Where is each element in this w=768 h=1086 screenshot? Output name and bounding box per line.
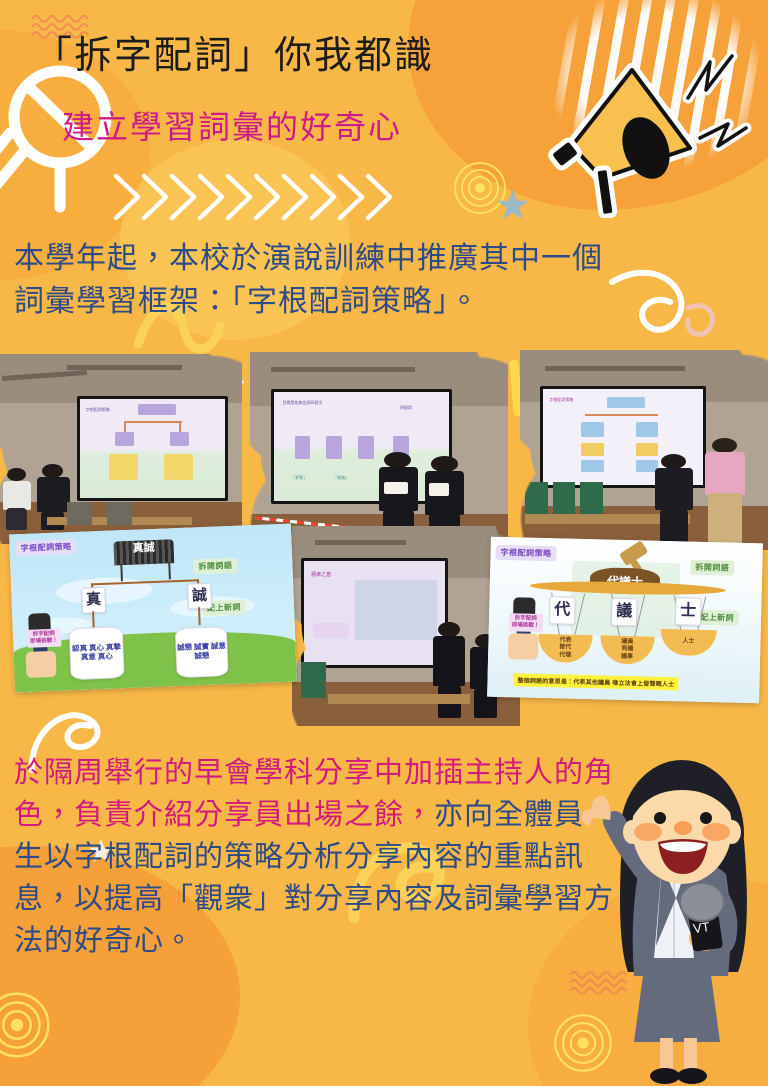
card-left-words-b: 誠懇 誠實 誠意 誠懇 <box>176 627 228 677</box>
reporter-illustration: VT <box>582 756 768 1086</box>
card-left-char-a: 真 <box>81 587 106 614</box>
photo-assembly-left: 字根配詞策略 <box>0 354 242 544</box>
intro-line-1: 本學年起，本校於演說訓練中推廣其中一個 <box>14 238 714 281</box>
card-left-char-b: 誠 <box>187 583 212 610</box>
page-title: 「拆字配詞」你我都識 <box>34 36 434 78</box>
card-left-strategy-tag: 字根配詞策略 <box>15 539 77 556</box>
card-right-mic-graphic <box>502 597 546 668</box>
photo-assembly-right: 字根配詞策略 <box>520 350 768 550</box>
card-right-char-b: 議 <box>611 598 638 627</box>
card-left-words-a: 認真 真心 真摯 真意 真心 <box>70 627 124 679</box>
photo-assembly-center-bottom: 觀衆之窗 <box>292 526 520 726</box>
card-right-mic-tag: 拆字配詞 即場挑戰！ <box>509 613 543 632</box>
card-left-split-tag: 拆開詞語 <box>193 558 238 575</box>
strategy-card-right: 字根配詞策略 拆開詞語 配上新詞 代議士 代 議 士 代表 替代 代理 議員 商… <box>487 537 763 704</box>
card-left-mic-tag: 拆字配詞 即場挑戰！ <box>27 629 61 648</box>
card-right-char-a: 代 <box>549 596 576 625</box>
megaphone-icon <box>540 28 768 218</box>
star-icon <box>496 188 530 222</box>
card-right-char-c: 士 <box>675 597 702 626</box>
chevron-row-icon <box>110 168 410 226</box>
poster-root: 「拆字配詞」你我都識 建立學習詞彙的好奇心 本學年起，本校於演說訓練中推廣其中一… <box>0 0 768 1086</box>
card-right-strategy-tag: 字根配詞策略 <box>495 545 556 561</box>
concentric-rings-icon-bottom-left <box>0 990 52 1060</box>
strategy-card-left: 字根配詞策略 拆開詞語 配上新詞 真誠 真 誠 認真 真心 真摯 真意 真心 誠… <box>9 524 297 693</box>
reporter-mic-label: VT <box>692 919 711 936</box>
card-left-mic-graphic <box>18 613 63 685</box>
card-right-split-tag: 拆開詞語 <box>690 560 734 576</box>
body-paragraph: 於隔周舉行的早會學科分享中加插主持人的角色，負責介紹分享員出場之餘，亦向全體員生… <box>14 752 614 962</box>
intro-line-2: 詞彙學習框架：「字根配詞策略」。 <box>14 281 714 324</box>
intro-paragraph: 本學年起，本校於演說訓練中推廣其中一個 詞彙學習框架：「字根配詞策略」。 <box>14 238 714 323</box>
page-subtitle: 建立學習詞彙的好奇心 <box>62 110 402 145</box>
card-left-root-word: 真誠 <box>113 539 174 565</box>
